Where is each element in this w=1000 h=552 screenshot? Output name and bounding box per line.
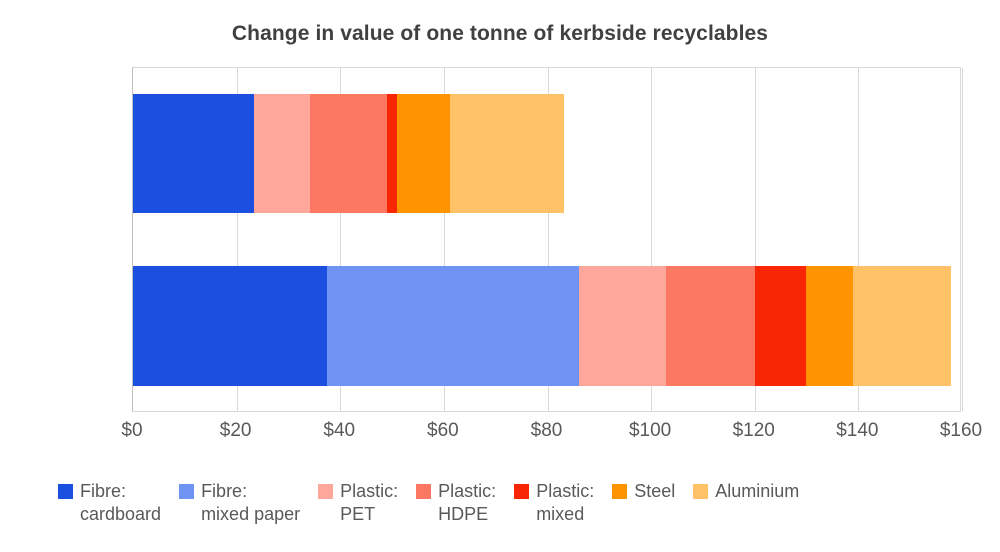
bar-segment[interactable] [806,266,853,386]
y-axis-category-label-end-feb-2018: End Feb 2018 [0,125,26,175]
legend-swatch-icon [416,484,431,499]
legend-label: Plastic: mixed [536,480,594,526]
legend-label: Fibre: cardboard [80,480,161,526]
stacked-bar[interactable] [133,266,951,386]
x-axis-tick-labels: $0$20$40$60$80$100$120$140$160 [132,420,961,450]
legend-swatch-icon [693,484,708,499]
legend-swatch-icon [514,484,529,499]
legend-item[interactable]: Plastic: HDPE [416,480,496,526]
x-axis-tick-label: $160 [940,420,982,442]
legend-label: Plastic: HDPE [438,480,496,526]
x-axis-tick-label: $120 [733,420,775,442]
bar-segment[interactable] [387,94,397,213]
bar-segment[interactable] [310,94,387,213]
x-axis-tick-label: $40 [323,420,355,442]
bar-segment[interactable] [133,266,327,386]
bar-segment[interactable] [579,266,666,386]
chart-legend: Fibre: cardboardFibre: mixed paperPlasti… [58,480,988,526]
bar-segment[interactable] [666,266,755,386]
legend-item[interactable]: Plastic: mixed [514,480,594,526]
bar-segment[interactable] [450,94,564,213]
y-axis-label-line2: 2018 [0,150,26,175]
legend-label: Aluminium [715,480,799,503]
y-axis-label-line1: Baseline [0,297,26,322]
legend-item[interactable]: Steel [612,480,675,503]
legend-item[interactable]: Plastic: PET [318,480,398,526]
legend-label: Plastic: PET [340,480,398,526]
y-axis-label-line1: End Feb [0,125,26,150]
legend-label: Steel [634,480,675,503]
legend-swatch-icon [58,484,73,499]
gridline [962,68,963,411]
y-axis-category-label-baseline: Baseline (2015-17) [0,297,26,347]
legend-label: Fibre: mixed paper [201,480,300,526]
chart-title: Change in value of one tonne of kerbside… [0,22,1000,46]
x-axis-tick-label: $140 [836,420,878,442]
x-axis-tick-label: $80 [531,420,563,442]
x-axis-tick-label: $100 [629,420,671,442]
chart-container: Change in value of one tonne of kerbside… [0,0,1000,552]
legend-item[interactable]: Fibre: mixed paper [179,480,300,526]
y-axis-label-line2: (2015-17) [0,322,26,347]
x-axis-tick-label: $60 [427,420,459,442]
legend-item[interactable]: Aluminium [693,480,799,503]
bar-segment[interactable] [755,266,806,386]
plot-area [132,67,961,412]
legend-swatch-icon [179,484,194,499]
stacked-bar[interactable] [133,94,564,213]
bar-row [133,266,960,386]
legend-swatch-icon [612,484,627,499]
legend-swatch-icon [318,484,333,499]
bar-segment[interactable] [397,94,450,213]
bar-segment[interactable] [254,94,310,213]
bar-segment[interactable] [853,266,951,386]
bar-series-group [133,68,960,411]
bar-segment[interactable] [133,94,254,213]
legend-item[interactable]: Fibre: cardboard [58,480,161,526]
x-axis-tick-label: $20 [220,420,252,442]
x-axis-tick-label: $0 [121,420,142,442]
bar-row [133,94,960,213]
bar-segment[interactable] [327,266,579,386]
